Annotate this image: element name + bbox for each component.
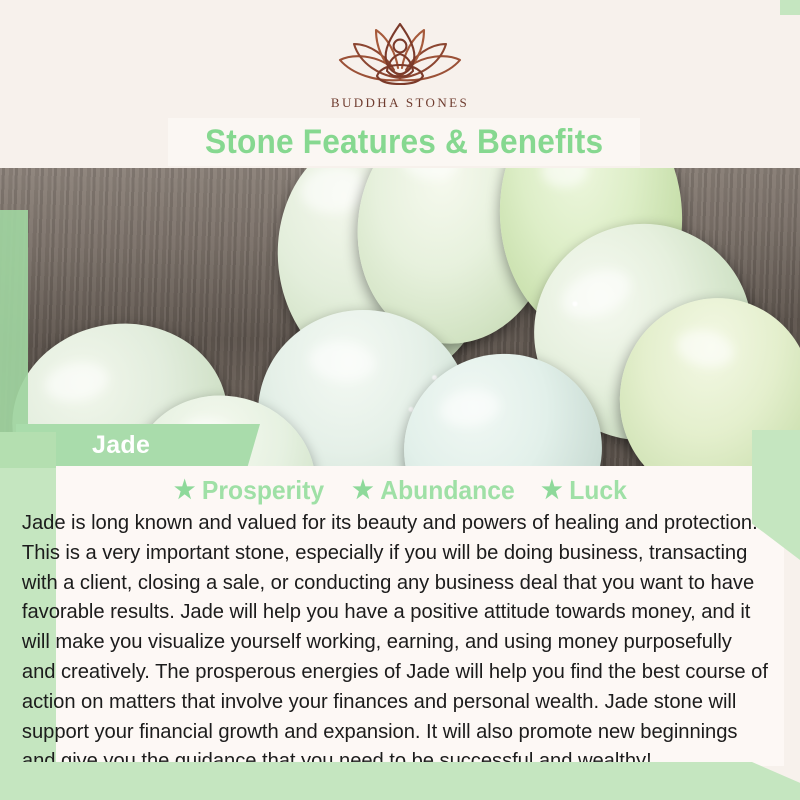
left-green-bar-photo bbox=[0, 210, 28, 432]
left-green-bar-lower-accent bbox=[0, 432, 56, 468]
title-banner: Stone Features & Benefits bbox=[168, 118, 640, 166]
lotus-meditation-icon bbox=[330, 20, 470, 91]
stone-name: Jade bbox=[92, 431, 150, 460]
star-icon: ★ bbox=[174, 478, 195, 503]
benefit-item: ★ Abundance bbox=[353, 475, 515, 506]
star-icon: ★ bbox=[353, 478, 374, 503]
stone-info-card: BUDDHA STONES Stone Features & Benefits bbox=[0, 0, 800, 800]
benefit-label: Prosperity bbox=[202, 475, 324, 506]
benefit-label: Luck bbox=[570, 475, 628, 506]
star-icon: ★ bbox=[542, 478, 563, 503]
brand-name: BUDDHA STONES bbox=[331, 95, 469, 111]
brand-logo: BUDDHA STONES bbox=[330, 20, 470, 111]
bottom-green-bar bbox=[0, 762, 800, 800]
top-cream-strip bbox=[0, 0, 780, 15]
stone-description: Jade is long known and valued for its be… bbox=[16, 508, 772, 776]
page-title: Stone Features & Benefits bbox=[205, 125, 603, 159]
benefit-item: ★ Luck bbox=[542, 475, 628, 506]
jade-stones-photo bbox=[0, 168, 800, 466]
brand-header: BUDDHA STONES bbox=[0, 15, 800, 116]
benefit-label: Abundance bbox=[381, 475, 515, 506]
benefits-row: ★ Prosperity ★ Abundance ★ Luck bbox=[0, 472, 800, 508]
benefit-item: ★ Prosperity bbox=[174, 475, 324, 506]
